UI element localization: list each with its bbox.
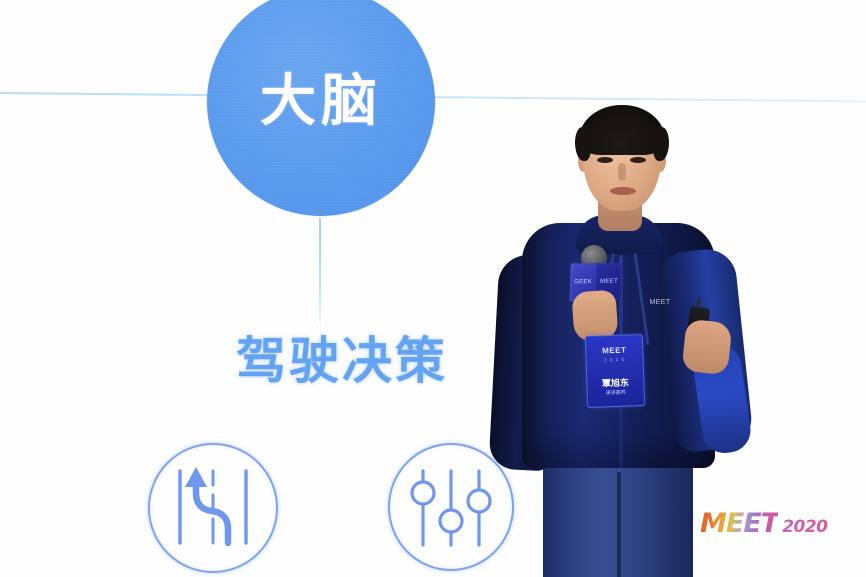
speaker-left-eye [597, 157, 613, 163]
watermark-brand: MEET [700, 508, 778, 539]
watermark-year: 2020 [782, 517, 827, 537]
speaker-right-eye [630, 157, 646, 163]
jacket-chest-logo: MEET [645, 291, 675, 313]
speaker-photo: GEEK MEET MEET MEET 2 0 2 0 覃旭东 演讲嘉宾 [470, 95, 780, 577]
speaker-hand-holding-clicker [681, 319, 732, 376]
speaker-jeans [543, 450, 693, 577]
badge-speaker-role: 演讲嘉宾 [588, 388, 644, 397]
vertical-connector-line [319, 218, 321, 324]
speaker-mouth [610, 187, 636, 195]
brain-circle-label: 大脑 [260, 74, 382, 130]
badge-logo-text: MEET [586, 345, 642, 356]
lane-change-icon-badge [148, 443, 278, 573]
screenshot-root: 大脑 驾驶决策 [0, 0, 866, 577]
speaker-nose [618, 163, 626, 181]
brain-circle-node: 大脑 [207, 0, 435, 216]
speaker-hair [579, 105, 665, 155]
event-watermark-logo: MEET 2020 [700, 508, 852, 542]
lane-change-icon [150, 445, 276, 571]
speaker-name-badge: MEET 2 0 2 0 覃旭东 演讲嘉宾 [585, 334, 645, 408]
driving-decision-label: 驾驶决策 [212, 334, 472, 389]
badge-logo-subtext: 2 0 2 0 [587, 356, 643, 363]
